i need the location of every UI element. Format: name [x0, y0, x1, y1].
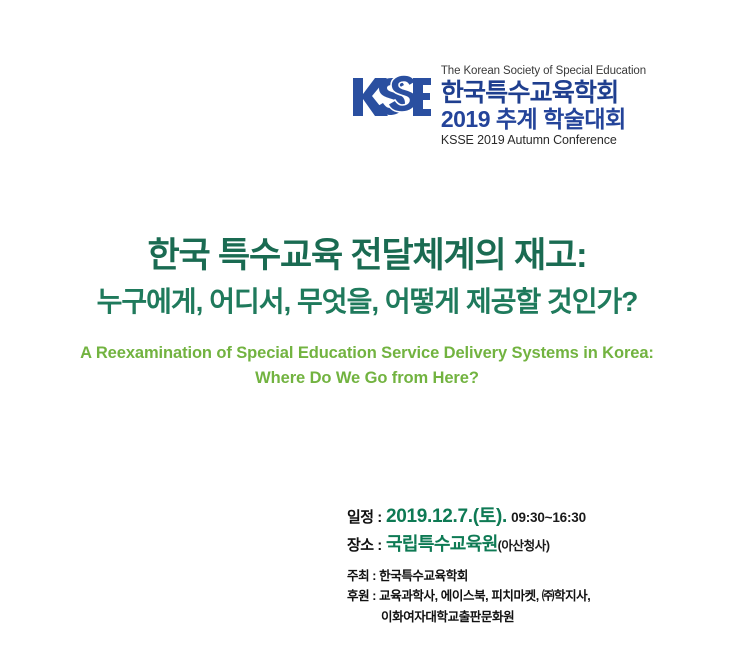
poster-title-block: 한국 특수교육 전달체계의 재고: 누구에게, 어디서, 무엇을, 어떻게 제공… [0, 236, 734, 318]
title-korean-subtitle: 누구에게, 어디서, 무엇을, 어떻게 제공할 것인가? [0, 285, 734, 319]
host-label: 주최 : [347, 569, 376, 583]
schedule-label: 일정 : [347, 509, 382, 526]
venue-row: 장소 : 국립특수교육원(아산청사) [347, 531, 586, 557]
venue-label: 장소 : [347, 537, 382, 554]
sponsor-label: 후원 : [347, 589, 376, 603]
event-details-block: 일정 : 2019.12.7.(토). 09:30~16:30 장소 : 국립특… [347, 503, 586, 557]
ksse-logo-mark [351, 72, 433, 118]
venue-note-value: (아산청사) [498, 539, 550, 553]
sponsor-row: 후원 : 교육과학사, 에이스북, 피치마켓, ㈜학지사, [347, 586, 590, 606]
sponsor-names-line1: 교육과학사, 에이스북, 피치마켓, ㈜학지사, [379, 589, 590, 603]
poster-title-english: A Reexamination of Special Education Ser… [0, 341, 734, 391]
schedule-date-value: 2019.12.7.(토). [386, 506, 507, 527]
host-row: 주최 : 한국특수교육학회 [347, 566, 590, 586]
organizers-block: 주최 : 한국특수교육학회 후원 : 교육과학사, 에이스북, 피치마켓, ㈜학… [347, 566, 590, 627]
society-name-en: The Korean Society of Special Education [441, 66, 646, 78]
schedule-row: 일정 : 2019.12.7.(토). 09:30~16:30 [347, 503, 586, 531]
title-english-line1: A Reexamination of Special Education Ser… [0, 341, 734, 366]
sponsor-row-continued: 이화여자대학교출판문화원 [347, 607, 590, 627]
society-name-ko: 한국특수교육학회 [441, 81, 619, 106]
sponsor-names-line2: 이화여자대학교출판문화원 [381, 610, 514, 624]
ksse-logo-block: The Korean Society of Special Education … [351, 66, 646, 146]
conference-name-ko: 2019 추계 학술대회 [441, 108, 626, 131]
schedule-time-value: 09:30~16:30 [511, 510, 586, 525]
venue-name-value: 국립특수교육원 [386, 534, 498, 554]
title-english-line2: Where Do We Go from Here? [0, 366, 734, 391]
host-name: 한국특수교육학회 [379, 569, 468, 583]
conference-name-en: KSSE 2019 Autumn Conference [441, 134, 617, 147]
ksse-logo-textblock: The Korean Society of Special Education … [441, 66, 646, 146]
title-korean-main: 한국 특수교육 전달체계의 재고: [0, 236, 734, 277]
